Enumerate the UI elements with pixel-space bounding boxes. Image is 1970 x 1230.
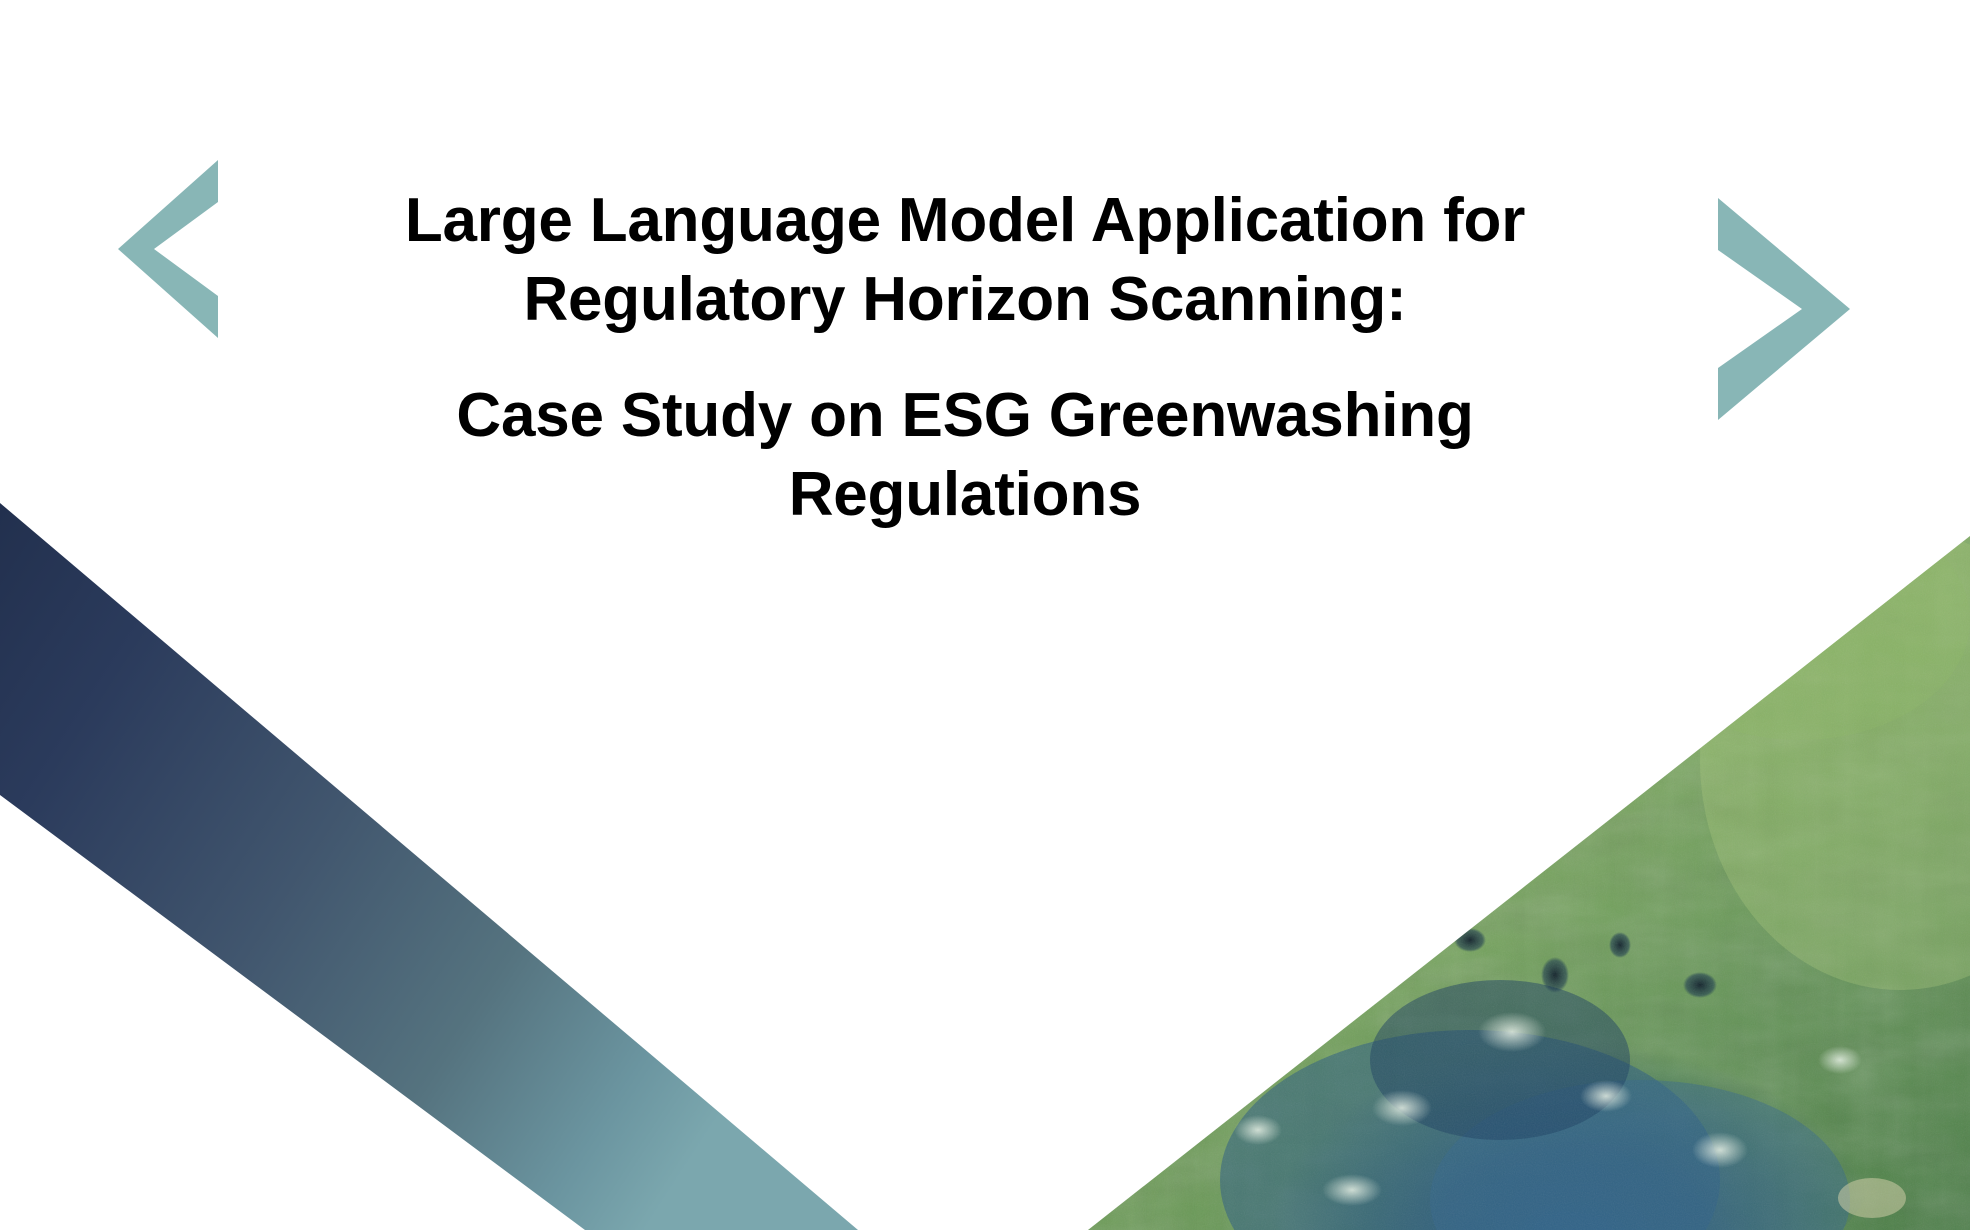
chevron-left-icon (118, 160, 218, 338)
slide-title-block: Large Language Model Application for Reg… (340, 182, 1590, 535)
chevron-right-icon (1718, 198, 1850, 420)
slide-title-line-1: Large Language Model Application for Reg… (340, 182, 1590, 339)
slide-title-line-2: Case Study on ESG Greenwashing Regulatio… (340, 377, 1590, 534)
title-slide: Large Language Model Application for Reg… (0, 0, 1970, 1230)
